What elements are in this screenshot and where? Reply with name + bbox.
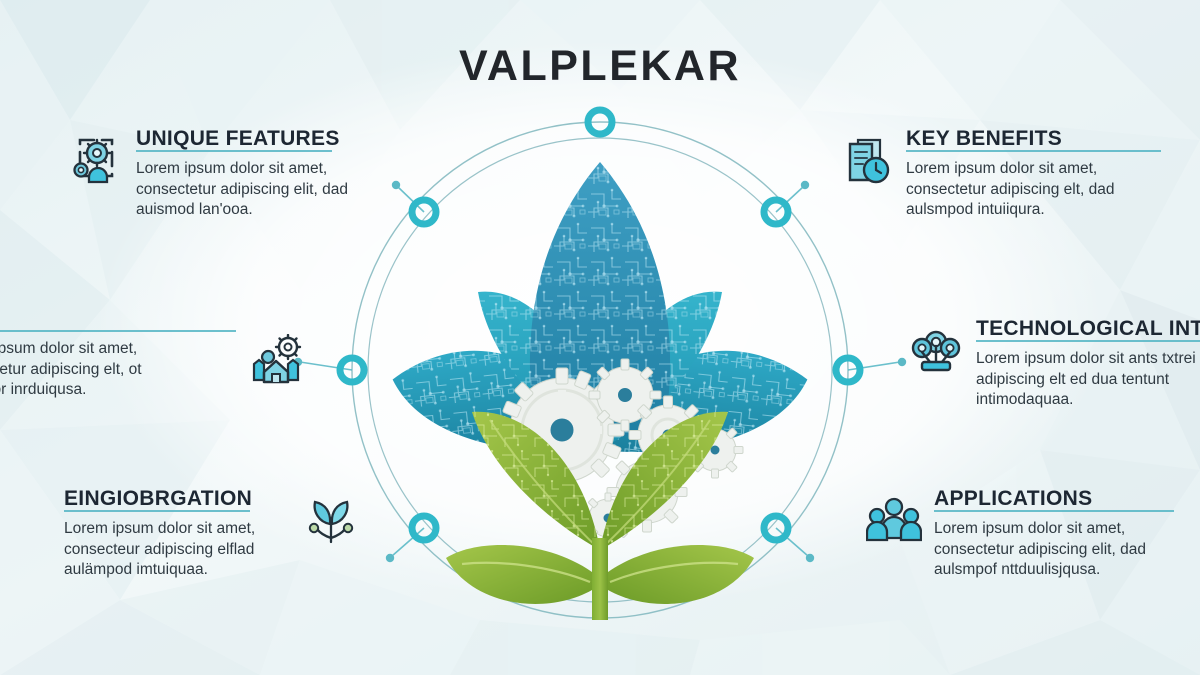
heading-underline [64,510,250,512]
feature-block-technological-integration[interactable]: TECHNOLOGICAL INTEG Lorem ipsum dolor si… [908,318,1200,411]
heading-underline [906,150,1161,152]
document-clock-icon [838,132,894,188]
heading-underline [136,150,332,152]
feature-body: Lorem ipsum dolor sit amet, consectetur … [0,340,142,398]
factory-gear-icon [248,334,304,390]
feature-text-group: EINGIOBRGATION Lorem ipsum dolor sit ame… [64,488,291,581]
network-nodes-icon [908,322,964,378]
heading-underline [0,330,236,332]
lotus-stem [592,538,608,620]
feature-text-group: UNIQUE FEATURES Lorem ipsum dolor sit am… [136,128,353,221]
heading-underline [976,340,1200,342]
feature-text-group: Lorem ipsum dolor sit amet, consectetur … [0,330,236,401]
page-title: VALPLEKAR [0,42,1200,91]
feature-body: Lorem ipsum dolor sit amet, consectetur … [136,160,348,218]
feature-body: Lorem ipsum dolor sit amet, consectetur … [934,520,1146,578]
people-group-icon [866,492,922,548]
feature-text-group: TECHNOLOGICAL INTEG Lorem ipsum dolor si… [976,318,1200,411]
feature-block-key-benefits[interactable]: KEY BENEFITS Lorem ipsum dolor sit amet,… [838,128,1138,221]
feature-body: Lorem ipsum dolor sit amet, consectetur … [906,160,1115,218]
feature-block-unique-features[interactable]: UNIQUE FEATURES Lorem ipsum dolor sit am… [68,128,353,221]
feature-body: Lorem ipsum dolor sit amet, consecteur a… [64,520,255,578]
sprout-leaf-icon [303,492,359,548]
infographic-canvas: VALPLEKAR [0,0,1200,675]
feature-block-sustainability[interactable]: EINGIOBRGATION Lorem ipsum dolor sit ame… [64,488,359,581]
feature-text-group: KEY BENEFITS Lorem ipsum dolor sit amet,… [906,128,1161,221]
circuit-lotus-flower [350,120,850,620]
feature-block-innovation[interactable]: Lorem ipsum dolor sit amet, consectetur … [14,330,304,401]
heading-underline [934,510,1174,512]
feature-body: Lorem ipsum dolor sit ants txtrei adipis… [976,350,1196,408]
feature-block-applications[interactable]: APPLICATIONS Lorem ipsum dolor sit amet,… [866,488,1166,581]
gear-screen-icon [68,132,124,188]
feature-text-group: APPLICATIONS Lorem ipsum dolor sit amet,… [934,488,1174,581]
